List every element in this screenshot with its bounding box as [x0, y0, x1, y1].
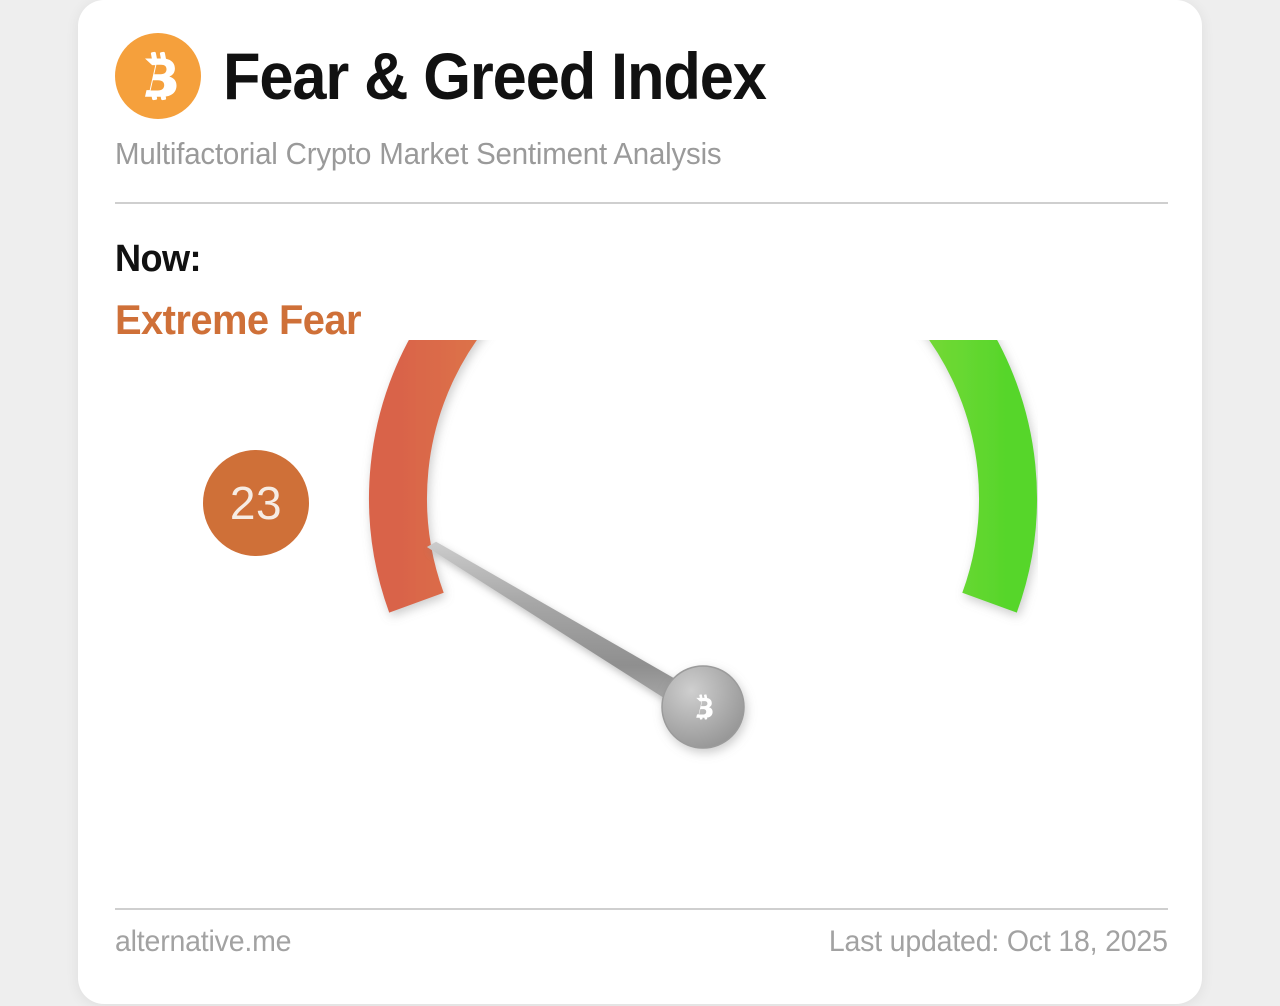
now-label: Now:: [115, 238, 201, 281]
gauge-value-badge: 23: [203, 450, 309, 556]
gauge-value: 23: [230, 480, 282, 526]
gauge: 23: [78, 340, 1202, 885]
last-updated: Last updated: Oct 18, 2025: [829, 925, 1168, 959]
source-link[interactable]: alternative.me: [115, 925, 291, 959]
status-classification: Extreme Fear: [115, 296, 361, 344]
page-title: Fear & Greed Index: [223, 43, 766, 109]
page-subtitle: Multifactorial Crypto Market Sentiment A…: [115, 136, 721, 172]
bitcoin-icon: [115, 33, 201, 119]
fear-greed-card: Fear & Greed Index Multifactorial Crypto…: [78, 0, 1202, 1004]
gauge-arc: [198, 340, 1038, 880]
divider-top: [115, 202, 1168, 204]
footer: alternative.me Last updated: Oct 18, 202…: [115, 925, 1168, 959]
header: Fear & Greed Index: [115, 33, 807, 119]
divider-bottom: [115, 908, 1168, 910]
